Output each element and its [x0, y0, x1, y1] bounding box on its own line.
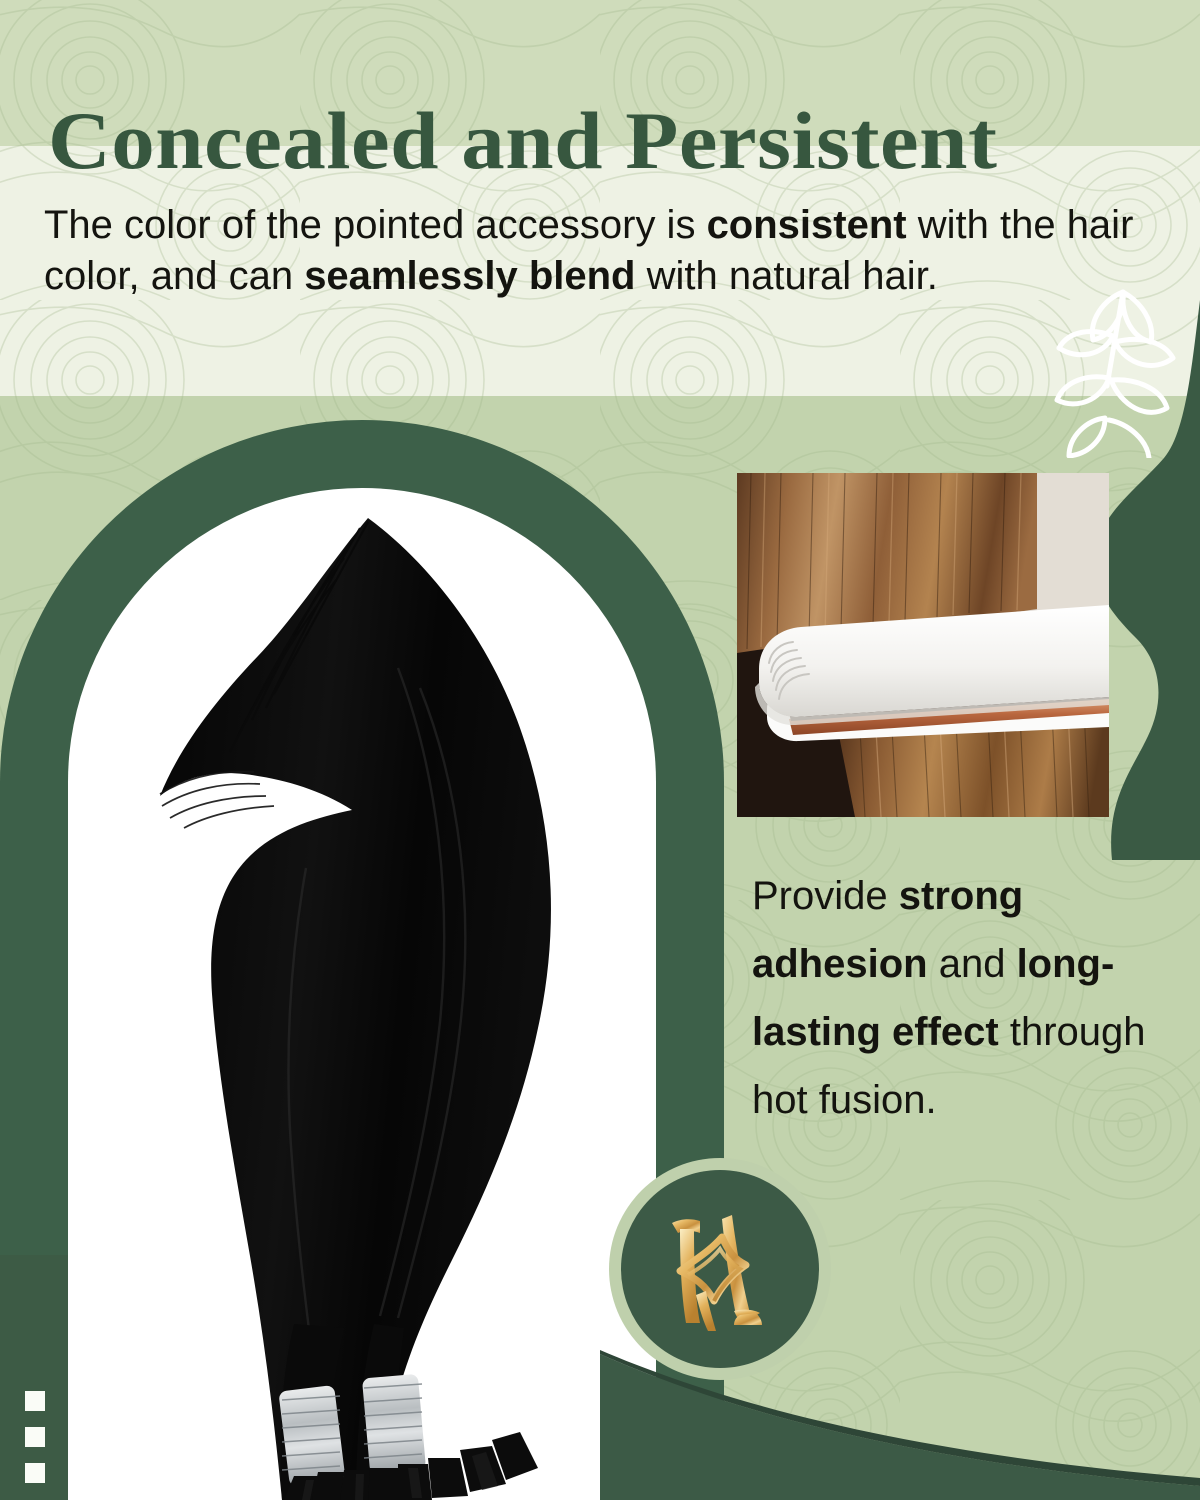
corner-tab: [0, 1255, 68, 1500]
tab-dot-2: [25, 1427, 45, 1447]
tab-dot-1: [25, 1391, 45, 1411]
logo-badge: [621, 1170, 819, 1368]
h-monogram-logo: [650, 1199, 790, 1339]
arch-inner-white: [68, 488, 656, 1500]
benefit-text: Provide strong adhesion and long-lasting…: [752, 862, 1182, 1134]
infographic-canvas: Concealed and Persistent The color of th…: [0, 0, 1200, 1500]
flat-iron-photo: [737, 473, 1109, 817]
flat-iron-illustration: [737, 473, 1109, 817]
hair-extension-bundle: [68, 488, 656, 1500]
leaf-branch-icon: [1015, 258, 1200, 458]
intro-paragraph: The color of the pointed accessory is co…: [44, 200, 1154, 302]
tab-dot-3: [25, 1463, 45, 1483]
page-title: Concealed and Persistent: [48, 98, 997, 184]
